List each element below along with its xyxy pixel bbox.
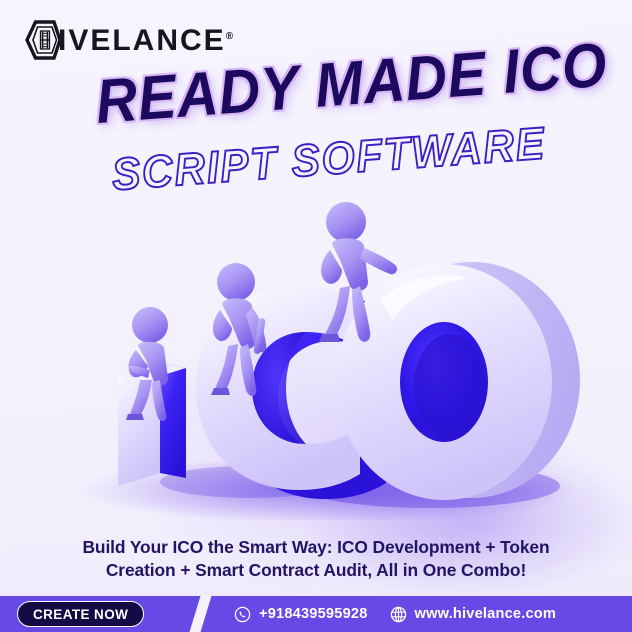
footer-bar: CREATE NOW +918439595928: [0, 596, 632, 632]
wordmark-text: IVELANCE: [58, 24, 226, 57]
diagonal-divider: [186, 596, 220, 632]
tagline: Build Your ICO the Smart Way: ICO Develo…: [0, 536, 632, 582]
tagline-line-2: Creation + Smart Contract Audit, All in …: [18, 559, 614, 582]
brand-logo[interactable]: IVELANCE®: [24, 18, 233, 62]
registered-trademark-symbol: ®: [226, 31, 233, 42]
letter-o-3d: [336, 262, 580, 500]
globe-icon: [390, 606, 407, 623]
headline-secondary: SCRIPT SOFTWARE: [110, 120, 547, 197]
phone-contact[interactable]: +918439595928: [234, 606, 368, 623]
letter-i-3d: [118, 362, 186, 486]
tagline-line-1: Build Your ICO the Smart Way: ICO Develo…: [18, 536, 614, 559]
promotional-poster: IVELANCE® READY MADE ICO SCRIPT SOFTWARE: [0, 0, 632, 632]
3d-ico-letters-with-figurines: [0, 190, 632, 520]
whatsapp-icon: [234, 606, 251, 623]
footer-contact-area: +918439595928 www.hivelance.com: [220, 596, 632, 632]
website-contact[interactable]: www.hivelance.com: [390, 606, 557, 623]
footer-cta-area: CREATE NOW: [0, 596, 186, 632]
hivelance-hex-logo-icon: [24, 20, 62, 60]
brand-wordmark: IVELANCE®: [58, 26, 233, 56]
create-now-button[interactable]: CREATE NOW: [17, 601, 144, 627]
phone-number: +918439595928: [259, 606, 368, 622]
website-url: www.hivelance.com: [415, 606, 557, 622]
